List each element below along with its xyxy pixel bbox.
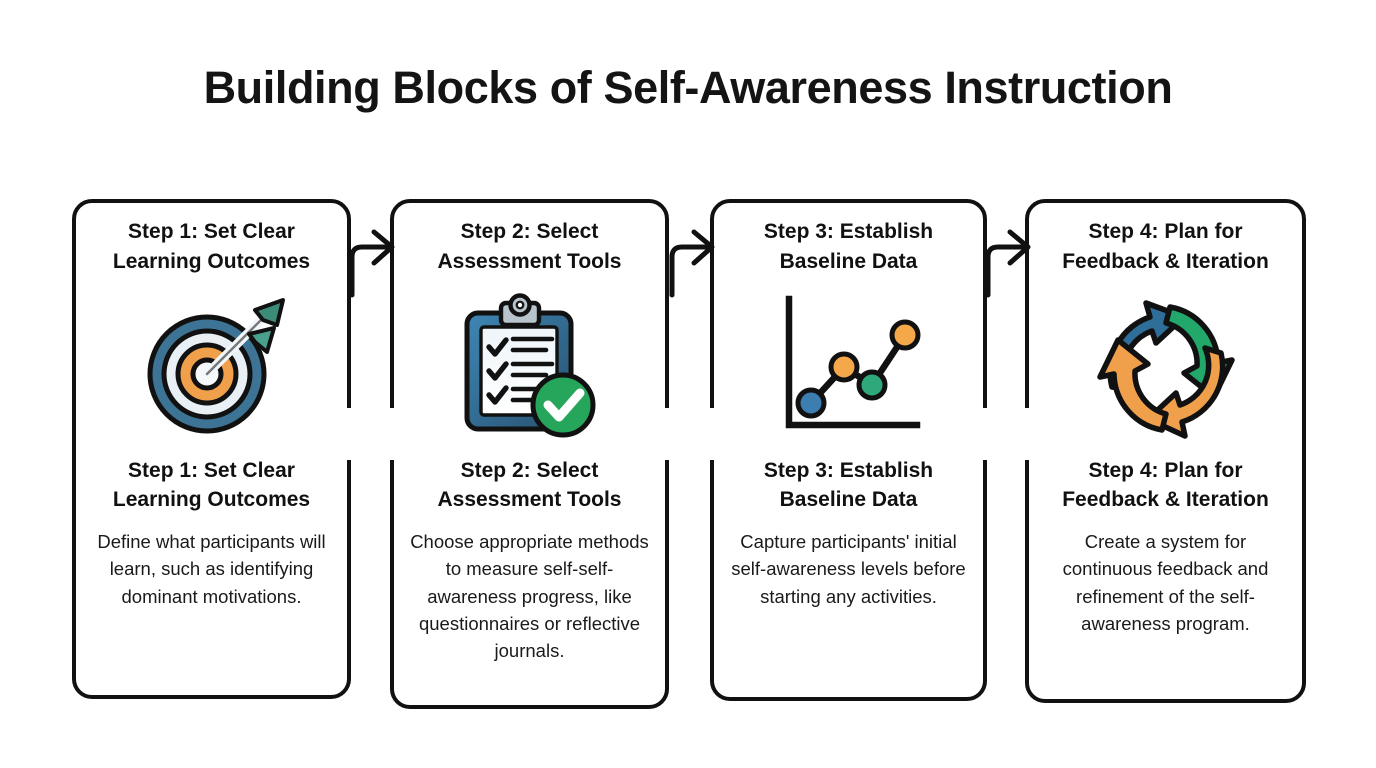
clipboard-checklist-icon bbox=[455, 291, 605, 443]
card-4-border-gap-left bbox=[1022, 408, 1036, 460]
steps-row: Step 1: Set Clear Learning Outcomes Ste bbox=[0, 199, 1376, 719]
step-card-3[interactable]: Step 3: Establish Baseline Data Step 3: … bbox=[710, 199, 987, 701]
step-card-4[interactable]: Step 4: Plan for Feedback & Iteration St… bbox=[1025, 199, 1306, 703]
card-3-border-gap-left bbox=[707, 408, 721, 460]
line-chart-icon bbox=[771, 291, 927, 443]
step-1-heading-top: Step 1: Set Clear Learning Outcomes bbox=[88, 217, 335, 277]
card-1-border-gap bbox=[340, 408, 354, 460]
step-2-icon-wrap bbox=[406, 285, 653, 450]
step-1-body: Define what participants will learn, suc… bbox=[88, 528, 335, 610]
step-3-heading-bottom: Step 3: Establish Baseline Data bbox=[726, 456, 971, 516]
target-arrow-icon bbox=[137, 292, 287, 442]
page-title: Building Blocks of Self-Awareness Instru… bbox=[0, 62, 1376, 114]
step-1-icon-wrap bbox=[88, 285, 335, 450]
step-1-heading-bottom: Step 1: Set Clear Learning Outcomes bbox=[88, 456, 335, 516]
infographic-page: Building Blocks of Self-Awareness Instru… bbox=[0, 0, 1376, 768]
step-4-icon-wrap bbox=[1041, 285, 1290, 450]
step-3-body: Capture participants' initial self-aware… bbox=[726, 528, 971, 610]
step-4-body: Create a system for continuous feedback … bbox=[1041, 528, 1290, 637]
step-3-heading-top: Step 3: Establish Baseline Data bbox=[726, 217, 971, 277]
step-card-2[interactable]: Step 2: Select Assessment Tools bbox=[390, 199, 669, 709]
card-2-border-gap bbox=[658, 408, 672, 460]
step-2-body: Choose appropriate methods to measure se… bbox=[406, 528, 653, 664]
step-3-icon-wrap bbox=[726, 285, 971, 450]
cycle-arrows-icon bbox=[1090, 291, 1242, 443]
step-card-1[interactable]: Step 1: Set Clear Learning Outcomes Ste bbox=[72, 199, 351, 699]
step-4-heading-bottom: Step 4: Plan for Feedback & Iteration bbox=[1041, 456, 1290, 516]
step-4-heading-top: Step 4: Plan for Feedback & Iteration bbox=[1041, 217, 1290, 277]
card-3-border-gap bbox=[976, 408, 990, 460]
card-2-border-gap-left bbox=[387, 408, 401, 460]
step-2-heading-bottom: Step 2: Select Assessment Tools bbox=[406, 456, 653, 516]
step-2-heading-top: Step 2: Select Assessment Tools bbox=[406, 217, 653, 277]
